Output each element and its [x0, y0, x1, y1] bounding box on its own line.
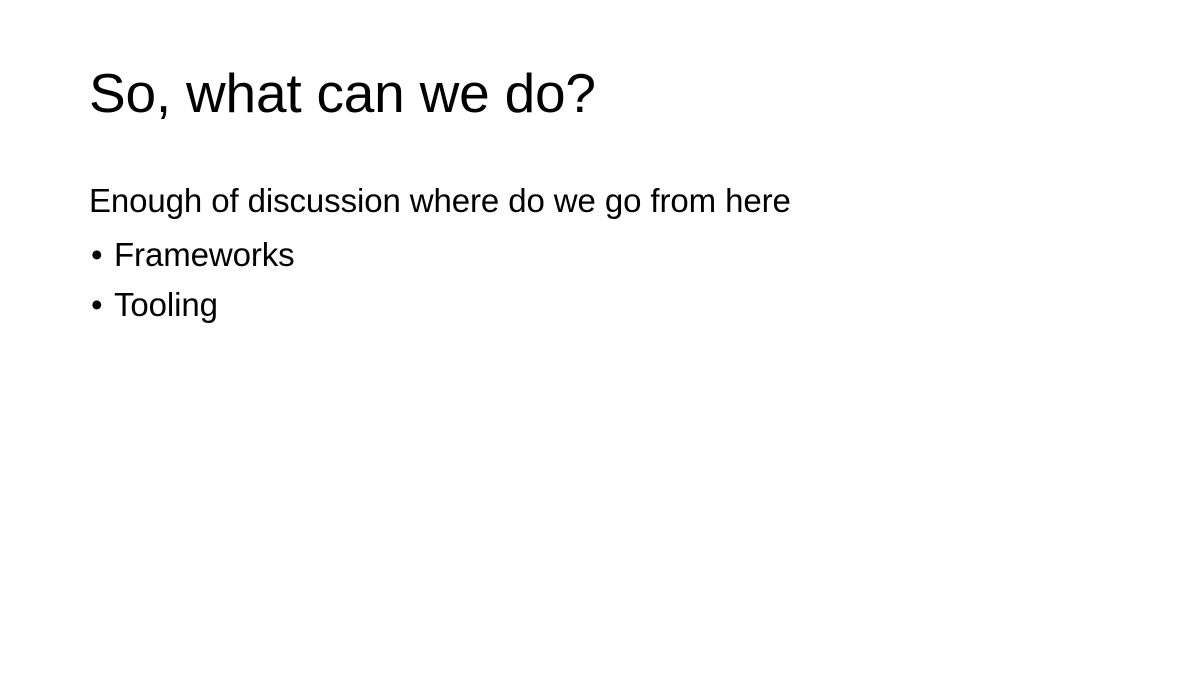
slide-canvas: So, what can we do? Enough of discussion… [0, 0, 1200, 675]
bullet-dot-icon: • [91, 280, 109, 330]
bullet-list: • Frameworks • Tooling [89, 230, 1109, 330]
bullet-item-label: Frameworks [114, 230, 295, 280]
list-item: • Tooling [89, 280, 1109, 330]
slide-title: So, what can we do? [89, 60, 1109, 126]
bullet-item-label: Tooling [114, 280, 218, 330]
list-item: • Frameworks [89, 230, 1109, 280]
body-lead-text: Enough of discussion where do we go from… [89, 180, 1109, 222]
slide-body: Enough of discussion where do we go from… [89, 180, 1109, 330]
bullet-dot-icon: • [91, 230, 109, 280]
